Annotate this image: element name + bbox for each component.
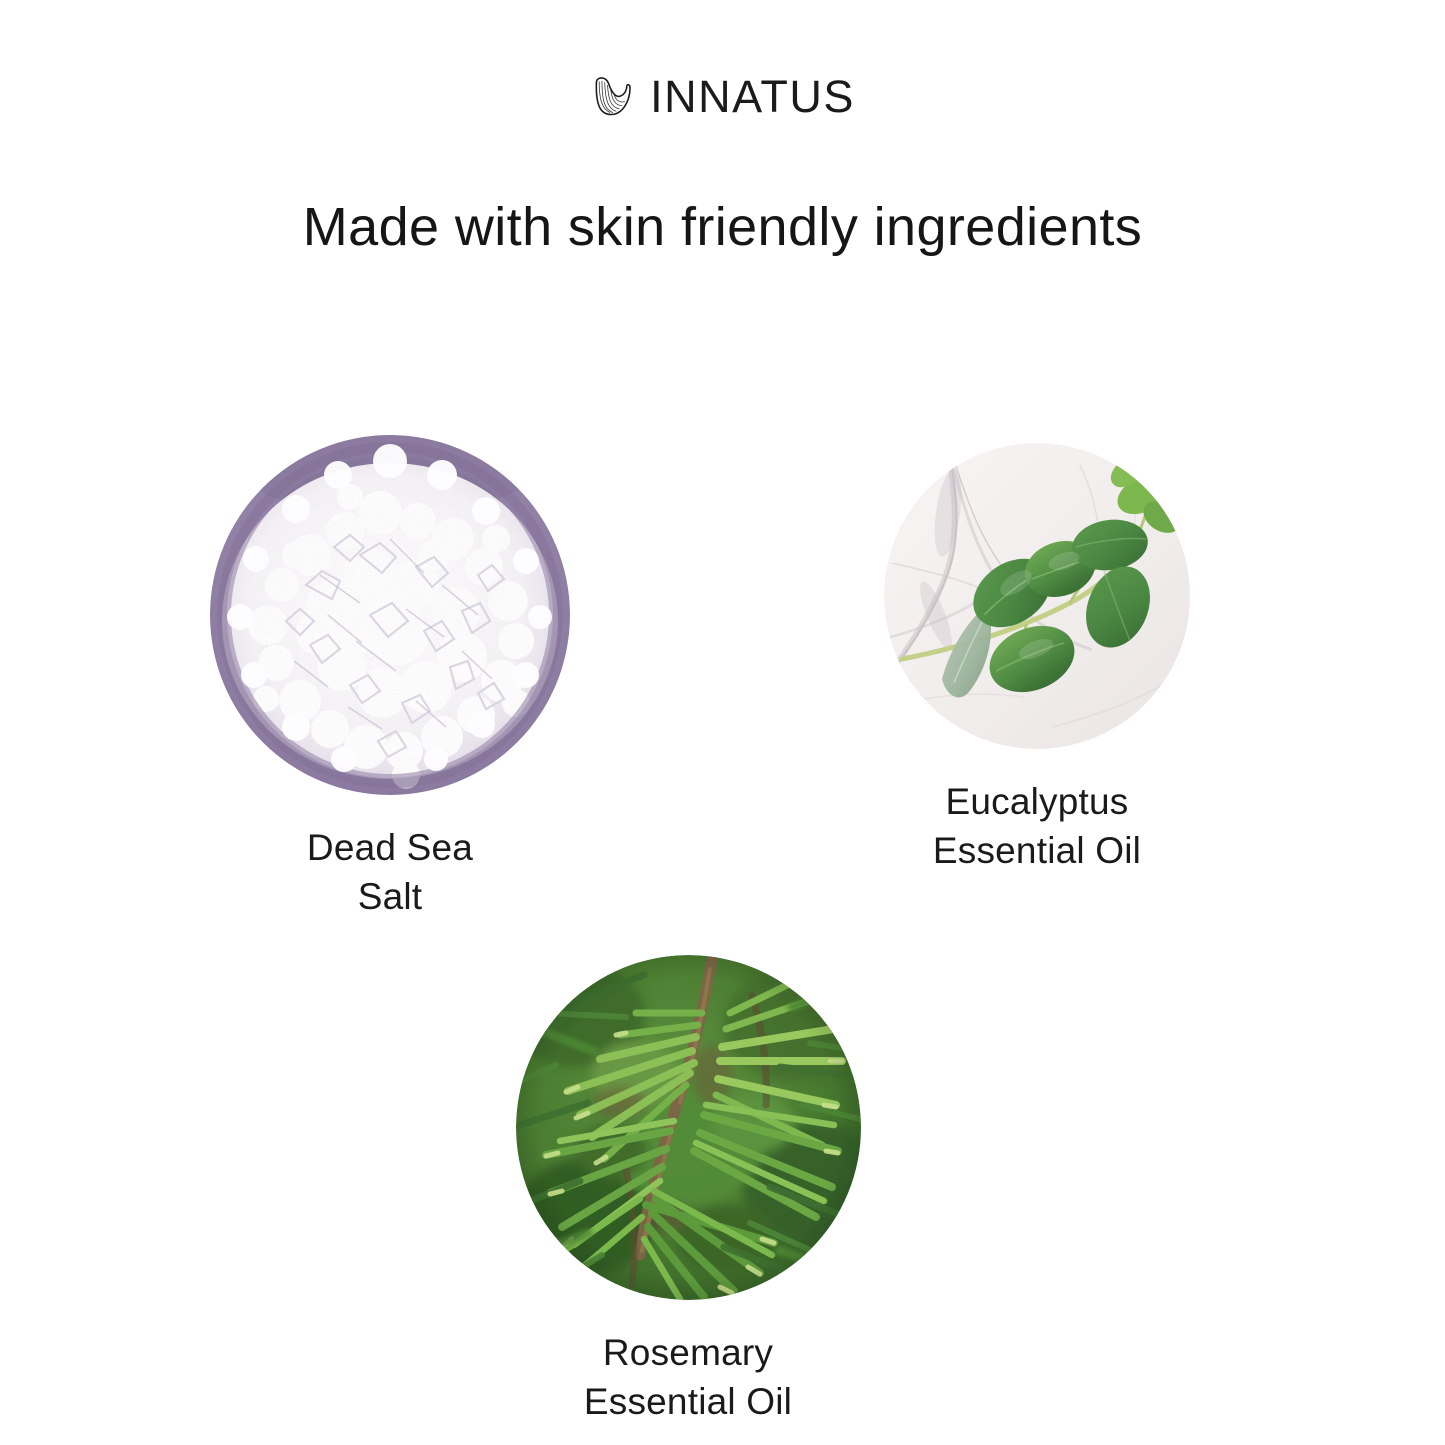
ingredient-image-dead-sea-salt [210,435,570,795]
ingredient-card-rosemary: Rosemary Essential Oil [418,955,958,1426]
ingredients-infographic-page: INNATUS Made with skin friendly ingredie… [0,0,1445,1445]
brand-name: INNATUS [650,74,855,119]
brand-logo: INNATUS [0,72,1445,120]
ingredient-image-eucalyptus [884,443,1190,749]
page-title: Made with skin friendly ingredients [0,196,1445,258]
ingredient-card-dead-sea-salt: Dead Sea Salt [120,435,660,921]
shell-wave-icon [590,74,636,120]
ingredient-caption-eucalyptus: Eucalyptus Essential Oil [767,777,1307,875]
ingredient-caption-rosemary: Rosemary Essential Oil [418,1328,958,1426]
ingredient-card-eucalyptus: Eucalyptus Essential Oil [767,443,1307,875]
ingredient-caption-dead-sea-salt: Dead Sea Salt [120,823,660,921]
ingredient-image-rosemary [516,955,861,1300]
